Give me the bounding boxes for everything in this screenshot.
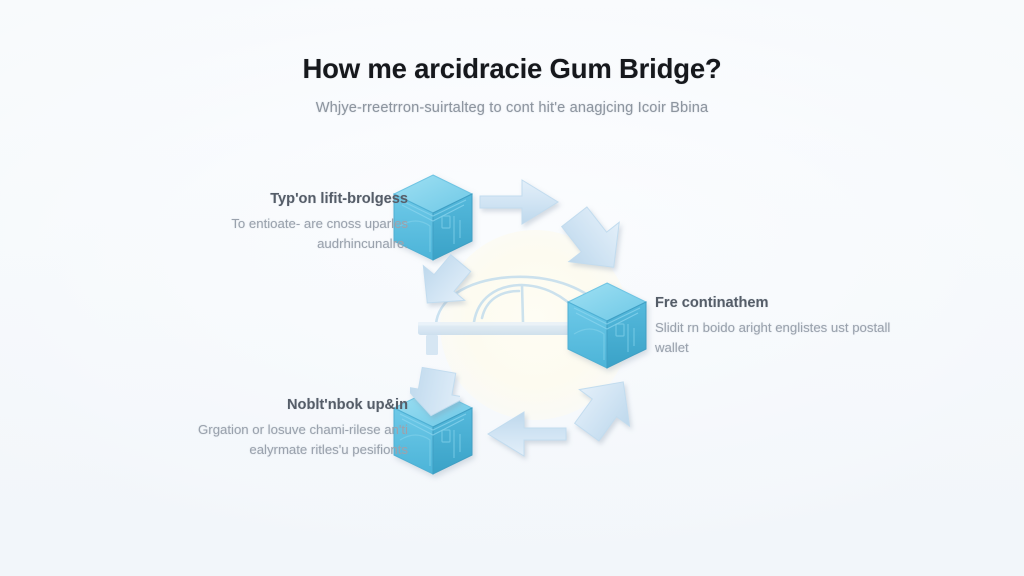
callout-body: To entioate- are cnoss uparles audrhincu…: [150, 214, 408, 254]
callout-heading: Noblt'nbok up&in: [148, 396, 408, 414]
arrow-right-icon: [478, 176, 560, 228]
callout-heading: Fre continathem: [655, 294, 900, 312]
page-subtitle: Whjye-rreetrron-suirtalteg to cont hit'e…: [0, 100, 1024, 116]
callout-bottom-left: Noblt'nbok up&in Grgation or losuve cham…: [148, 396, 408, 460]
arrow-left-icon: [486, 408, 568, 460]
arrow-up-right-icon: [572, 368, 638, 446]
cycle-diagram: [382, 168, 682, 480]
isometric-cube-icon: [564, 280, 650, 372]
callout-top-left: Typ'on lifit-brolgess To entioate- are c…: [150, 190, 408, 254]
arrow-down-icon: [410, 356, 460, 430]
callout-body: Grgation or losuve chami-rilese an'ti ea…: [148, 420, 408, 460]
callout-heading: Typ'on lifit-brolgess: [150, 190, 408, 208]
arrow-down-right-icon: [560, 204, 628, 280]
header: How me arcidracie Gum Bridge? Whjye-rree…: [0, 52, 1024, 116]
callout-body: Slidit rn boido aright englistes ust pos…: [655, 318, 900, 358]
callout-right: Fre continathem Slidit rn boido aright e…: [655, 294, 900, 358]
page-title: How me arcidracie Gum Bridge?: [0, 52, 1024, 85]
arrow-down-left-icon: [416, 252, 472, 314]
poster-canvas: How me arcidracie Gum Bridge? Whjye-rree…: [0, 0, 1024, 576]
